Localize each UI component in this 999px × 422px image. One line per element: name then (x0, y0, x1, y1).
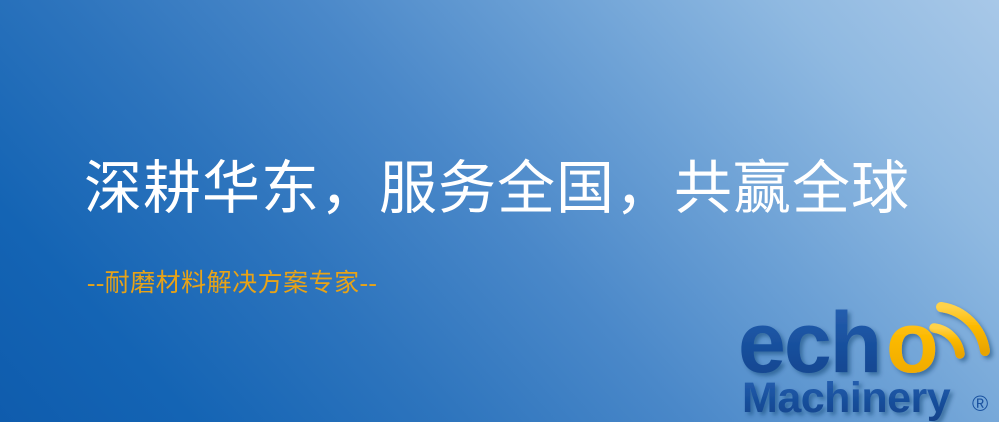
page-title: 深耕华东，服务全国，共赢全球 (84, 152, 910, 226)
logo-wordmark-machinery: Machinery (742, 374, 951, 422)
signal-arcs-icon (934, 307, 985, 354)
promo-banner: 深耕华东，服务全国，共赢全球 --耐磨材料解决方案专家-- (0, 0, 999, 422)
echo-machinery-logo: ech o Machinery ® (738, 292, 999, 422)
logo-registered-mark: ® (972, 391, 988, 416)
page-subtitle: --耐磨材料解决方案专家-- (87, 268, 377, 300)
